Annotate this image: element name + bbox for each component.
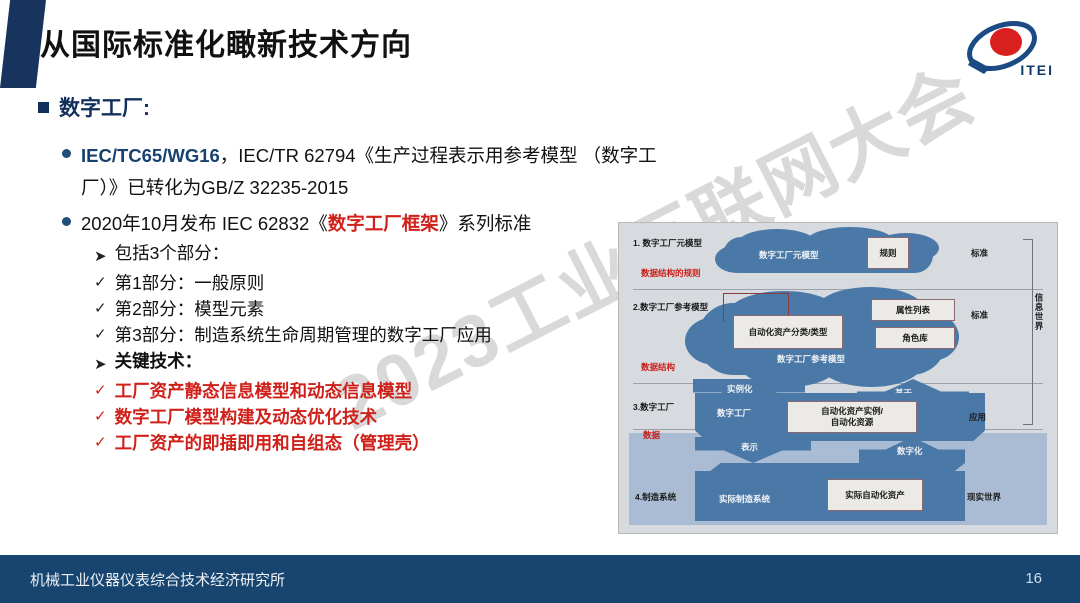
meta-model-cloud-label: 数字工厂元模型: [759, 249, 819, 261]
check-bullet-icon: ✓: [94, 296, 107, 322]
check-bullet-icon: ✓: [94, 270, 107, 296]
reference-model-cloud-label: 数字工厂参考模型: [777, 353, 845, 365]
list-item: ➤ 包括3个部分：: [94, 240, 662, 270]
list-item: ✓ 工厂资产的即插即用和自组态（管理壳）: [94, 430, 662, 456]
section-heading: 数字工厂:: [38, 92, 150, 122]
information-world-brace: [1023, 239, 1033, 425]
section-heading-label: 数字工厂:: [59, 92, 150, 122]
list-item-label: 第1部分：一般原则: [115, 270, 265, 296]
red-label-structure: 数据结构: [641, 361, 675, 373]
attribute-list-box: 属性列表: [871, 299, 955, 321]
asset-classification-box: 自动化资产分类/类型: [733, 315, 843, 349]
check-bullet-icon: ✓: [94, 378, 107, 404]
bullet-item: IEC/TC65/WG16，IEC/TR 62794《生产过程表示用参考模型 （…: [62, 140, 662, 204]
right-label-application: 应用: [969, 411, 986, 423]
real-asset-box: 实际自动化资产: [827, 479, 923, 511]
representation-arrow-label: 表示: [741, 441, 758, 453]
arrow-bullet-icon: ➤: [94, 352, 107, 378]
asset-instance-box: 自动化资产实例/ 自动化资源: [787, 401, 917, 433]
red-label-rule: 数据结构的规则: [641, 267, 701, 279]
list-item-label: 工厂资产的即插即用和自组态（管理壳）: [115, 430, 430, 456]
arrow-bullet-icon: ➤: [94, 244, 107, 270]
digital-factory-bar-label: 数字工厂: [717, 407, 751, 419]
list-item-label: 数字工厂模型构建及动态优化技术: [115, 404, 378, 430]
list-item: ➤ 关键技术：: [94, 348, 662, 378]
page-title: 从国际标准化瞰新技术方向: [40, 20, 412, 64]
page-number: 16: [1025, 570, 1042, 587]
right-label-real-world: 现实世界: [967, 491, 1001, 503]
rule-box: 规则: [867, 237, 909, 269]
check-bullet-icon: ✓: [94, 404, 107, 430]
dot-bullet-icon: [62, 149, 71, 158]
diagram-divider: [633, 289, 1043, 290]
digitization-arrow-label: 数字化: [897, 445, 923, 457]
list-item: ✓ 第2部分：模型元素: [94, 296, 662, 322]
list-item: ✓ 第1部分：一般原则: [94, 270, 662, 296]
list-item-label: 工厂资产静态信息模型和动态信息模型: [115, 378, 413, 404]
itei-wordmark: ITEI: [1020, 62, 1054, 78]
release-text-suffix: 》系列标准: [439, 213, 532, 234]
role-library-box: 角色库: [875, 327, 955, 349]
check-bullet-icon: ✓: [94, 430, 107, 456]
list-item: ✓ 工厂资产静态信息模型和动态信息模型: [94, 378, 662, 404]
digital-factory-framework-diagram: 1. 数字工厂元模型 数据结构的规则 数字工厂元模型 规则 标准 2.数字工厂参…: [618, 222, 1058, 534]
list-item-label: 第3部分：制造系统生命周期管理的数字工厂应用: [115, 322, 492, 348]
itei-logo: ITEI: [950, 18, 1058, 80]
sub-items-list: ➤ 包括3个部分： ✓ 第1部分：一般原则 ✓ 第2部分：模型元素 ✓ 第3部分…: [94, 240, 662, 456]
standard-ref-wg: IEC/TC65/WG16: [81, 145, 220, 166]
right-label-standard-2: 标准: [971, 309, 988, 321]
list-item: ✓ 数字工厂模型构建及动态优化技术: [94, 404, 662, 430]
release-text-prefix: 2020年10月发布 IEC 62832《: [81, 213, 328, 234]
square-bullet-icon: [38, 102, 49, 113]
body-content: IEC/TC65/WG16，IEC/TR 62794《生产过程表示用参考模型 （…: [62, 140, 662, 456]
list-item-label: 包括3个部分：: [115, 240, 230, 266]
bullet-text: 2020年10月发布 IEC 62832《数字工厂框架》系列标准: [81, 208, 531, 240]
check-bullet-icon: ✓: [94, 322, 107, 348]
right-label-standard-1: 标准: [971, 247, 988, 259]
list-item-label: 第2部分：模型元素: [115, 296, 265, 322]
key-tech-heading: 关键技术：: [115, 348, 203, 374]
information-world-label: 信息世界: [1033, 293, 1045, 331]
bullet-text: IEC/TC65/WG16，IEC/TR 62794《生产过程表示用参考模型 （…: [81, 140, 662, 204]
red-label-data: 数据: [643, 429, 660, 441]
layer-label-2: 2.数字工厂参考模型: [633, 301, 708, 313]
manufacturing-system-bar-top: [705, 463, 965, 475]
dot-bullet-icon: [62, 217, 71, 226]
manufacturing-system-bar-label: 实际制造系统: [719, 493, 770, 505]
framework-title: 数字工厂框架: [328, 213, 439, 234]
bullet-item: 2020年10月发布 IEC 62832《数字工厂框架》系列标准: [62, 208, 662, 240]
layer-label-4: 4.制造系统: [635, 491, 676, 503]
meta-model-cloud-lobe: [715, 245, 759, 273]
layer-label-3: 3.数字工厂: [633, 401, 674, 413]
footer-bar: 机械工业仪器仪表综合技术经济研究所 16: [0, 555, 1080, 603]
list-item: ✓ 第3部分：制造系统生命周期管理的数字工厂应用: [94, 322, 662, 348]
footer-organization: 机械工业仪器仪表综合技术经济研究所: [30, 569, 285, 590]
layer-label-1: 1. 数字工厂元模型: [633, 237, 702, 249]
